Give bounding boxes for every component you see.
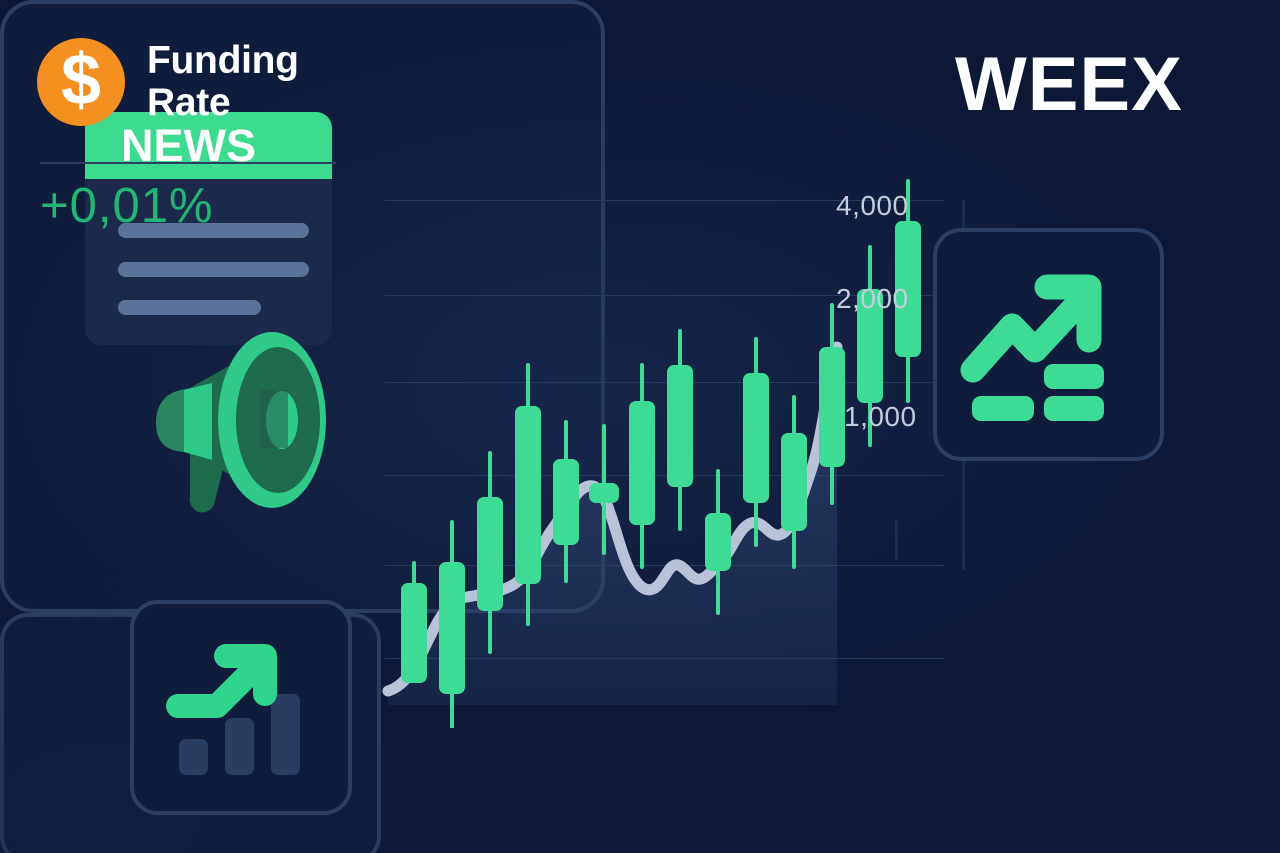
candle-wick (716, 469, 720, 517)
news-placeholder-line (118, 300, 261, 315)
dollar-coin-icon: $ (37, 38, 125, 126)
megaphone-icon (132, 322, 344, 514)
funding-rate-title-line1: Funding (147, 40, 299, 82)
funding-rate-divider (40, 162, 336, 164)
dollar-symbol: $ (61, 44, 101, 116)
trending-up-bars-icon (937, 232, 1168, 465)
candle-wick (716, 567, 720, 615)
candle-wick (640, 363, 644, 405)
candle-body (781, 433, 807, 531)
funding-rate-title-line2: Rate (147, 82, 299, 124)
candle-wick (602, 503, 606, 555)
news-placeholder-line (118, 262, 309, 277)
y-axis-tick-4000: 4,000 (836, 190, 909, 222)
candle-wick (488, 604, 492, 654)
funding-rate-title: Funding Rate (147, 40, 299, 123)
y-axis-tick-2000: 2,000 (836, 283, 909, 315)
candle-wick (678, 483, 682, 531)
candle-wick (754, 499, 758, 547)
candle-body (819, 347, 845, 467)
candle-wick (906, 353, 910, 403)
candle-wick (830, 303, 834, 351)
candle-body (589, 483, 619, 503)
candle-body (629, 401, 655, 525)
candle-wick (450, 520, 454, 568)
candle-body (667, 365, 693, 487)
trend-list-card[interactable] (933, 228, 1164, 461)
candle-body (553, 459, 579, 545)
candle-wick (678, 329, 682, 369)
y-axis-tick-1000: 1,000 (844, 401, 917, 433)
candle-wick (640, 521, 644, 569)
candle-body (401, 583, 427, 683)
bar-chart-growth-card[interactable] (130, 600, 352, 815)
candle-body (743, 373, 769, 503)
funding-rate-value: +0,01% (40, 178, 214, 234)
candle-body (705, 513, 731, 571)
candle-wick (792, 527, 796, 569)
candle-wick (450, 688, 454, 728)
candle-wick (602, 424, 606, 487)
candle-wick (792, 395, 796, 437)
candle-wick (488, 451, 492, 503)
funding-rate-header: $ Funding Rate (0, 0, 1280, 164)
candle-wick (830, 463, 834, 505)
candle-body (515, 406, 541, 584)
bar-chart-growth-icon (134, 604, 356, 819)
candle-body (439, 562, 465, 694)
infographic-canvas: WEEX NEWS (0, 0, 1280, 853)
candle-wick (526, 363, 530, 411)
candle-body (477, 497, 503, 611)
candle-wick (754, 337, 758, 377)
